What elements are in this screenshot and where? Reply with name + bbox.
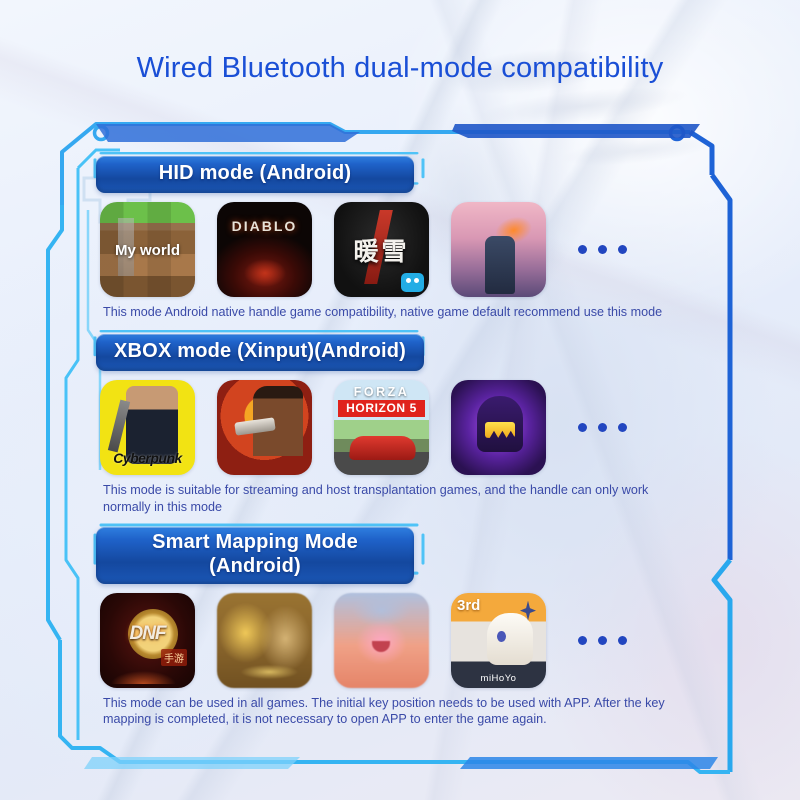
game-tile-label: DIABLO [217, 218, 312, 234]
game-tile-title-line2: miHoYo [451, 673, 546, 684]
more-games-indicator-xbox[interactable] [578, 423, 627, 432]
game-tile-label: Cyberpunk [100, 450, 195, 466]
mode-section-smart-mapping: Smart Mapping Mode (Android) DNF 手游 3rd … [96, 527, 716, 728]
mode-badge-wrap-hid: HID mode (Android) [96, 156, 716, 193]
mode-section-hid: HID mode (Android) My world DIABLO 暖雪 Th… [96, 156, 716, 320]
dot-icon [578, 636, 587, 645]
mode-description-xbox: This mode is suitable for streaming and … [96, 482, 696, 515]
game-tile-title-line1: 3rd [457, 597, 480, 614]
mode-description-hid: This mode Android native handle game com… [96, 304, 696, 321]
mode-badge-wrap-smart-mapping: Smart Mapping Mode (Android) [96, 527, 716, 583]
game-tile-pink-creature-game[interactable] [334, 593, 429, 688]
mode-section-xbox: XBOX mode (Xinput)(Android) Cyberpunk FO… [96, 334, 716, 515]
more-games-indicator-hid[interactable] [578, 245, 627, 254]
game-tile-honkai-impact-3rd[interactable]: 3rd miHoYo [451, 593, 546, 688]
tile-row-xbox: Cyberpunk FORZA HORIZON 5 [96, 380, 716, 475]
game-tile-my-world[interactable]: My world [100, 202, 195, 297]
game-tile-nuanxue[interactable]: 暖雪 [334, 202, 429, 297]
game-tile-dead-cells[interactable] [451, 202, 546, 297]
mode-description-smart-mapping: This mode can be used in all games. The … [96, 695, 696, 728]
dot-icon [598, 245, 607, 254]
game-tile-gold-game[interactable] [217, 593, 312, 688]
dot-icon [578, 245, 587, 254]
game-tile-label: My world [100, 242, 195, 259]
game-tile-title-line2: HORIZON 5 [338, 400, 425, 417]
game-tile-forza-horizon-5[interactable]: FORZA HORIZON 5 [334, 380, 429, 475]
dot-icon [618, 636, 627, 645]
tile-row-hid: My world DIABLO 暖雪 [96, 202, 716, 297]
dot-icon [578, 423, 587, 432]
mode-badge-line1: Smart Mapping Mode [114, 531, 396, 555]
star-icon [520, 601, 536, 621]
mode-badge-line2: (Android) [114, 555, 396, 579]
game-tile-red-dead-redemption-2[interactable] [217, 380, 312, 475]
mode-badge-wrap-xbox: XBOX mode (Xinput)(Android) [96, 334, 716, 371]
more-games-indicator-smart-mapping[interactable] [578, 636, 627, 645]
game-tile-label: DNF [100, 623, 195, 645]
mode-badge-smart-mapping[interactable]: Smart Mapping Mode (Android) [96, 527, 414, 583]
dot-icon [618, 245, 627, 254]
tile-row-smart-mapping: DNF 手游 3rd miHoYo [96, 593, 716, 688]
dot-icon [598, 423, 607, 432]
game-tile-dnf-mobile[interactable]: DNF 手游 [100, 593, 195, 688]
game-tile-magic-survival[interactable] [451, 380, 546, 475]
game-tile-cyberpunk[interactable]: Cyberpunk [100, 380, 195, 475]
game-tile-title-line1: FORZA [340, 385, 423, 399]
page-title: Wired Bluetooth dual-mode compatibility [0, 52, 800, 85]
game-tile-sublabel: 手游 [161, 649, 187, 666]
game-tile-diablo[interactable]: DIABLO [217, 202, 312, 297]
dot-icon [598, 636, 607, 645]
dot-icon [618, 423, 627, 432]
modes-container: HID mode (Android) My world DIABLO 暖雪 Th… [96, 150, 716, 728]
mode-badge-xbox[interactable]: XBOX mode (Xinput)(Android) [96, 334, 424, 371]
mode-badge-hid[interactable]: HID mode (Android) [96, 156, 414, 193]
bilibili-badge-icon [401, 273, 424, 292]
game-tile-label: 暖雪 [334, 232, 429, 268]
